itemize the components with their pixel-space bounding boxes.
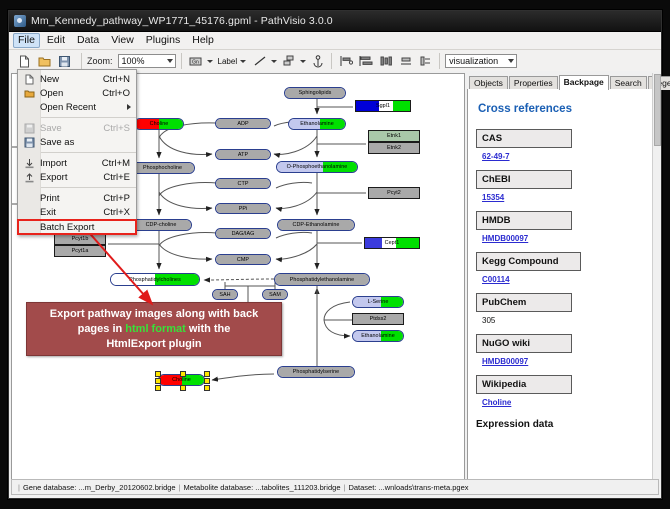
xref-row: CAS62-49-7: [476, 129, 651, 161]
node-label: Ptdss2: [370, 316, 387, 322]
menu-view[interactable]: View: [106, 33, 139, 48]
node-label: O-Phosphoethanolamine: [287, 164, 348, 170]
chevron-right-icon: [127, 104, 131, 110]
scrollbar-thumb[interactable]: [654, 74, 661, 146]
annotation-line-3: HtmlExport plugin: [106, 338, 201, 350]
node-fill-right: [396, 238, 419, 248]
cross-reference-list: CAS62-49-7ChEBI15354HMDBHMDB00097Kegg Co…: [476, 129, 651, 407]
tab-search[interactable]: Search: [610, 76, 647, 90]
metabolite-node-cmp[interactable]: CMP: [215, 254, 271, 265]
node-fill-right: [393, 101, 410, 111]
toolbar-separator: [81, 53, 82, 69]
xref-value[interactable]: C00114: [482, 275, 651, 284]
menu-item-label: Exit: [40, 207, 103, 218]
metabolite-node-phosphatidylserine[interactable]: Phosphatidylserine: [277, 366, 355, 378]
align-middle-icon[interactable]: [377, 53, 394, 70]
menu-item-import[interactable]: ImportCtrl+M: [18, 156, 136, 170]
xref-name: CAS: [476, 129, 572, 148]
anchor-icon[interactable]: [309, 53, 326, 70]
menu-item-label: Print: [40, 193, 103, 204]
menu-item-new[interactable]: NewCtrl+N: [18, 72, 136, 86]
menu-item-open[interactable]: OpenCtrl+O: [18, 86, 136, 100]
node-label: Phosphatidylcholines: [129, 277, 181, 283]
metabolite-node-cdp-choline[interactable]: CDP-choline: [130, 219, 192, 231]
gene-database-value: ...m_Derby_20120602.bridge: [78, 483, 175, 492]
xref-link[interactable]: C00114: [482, 275, 510, 284]
node-label: CMP: [237, 257, 249, 263]
menu-item-accelerator: Ctrl+S: [103, 123, 130, 134]
annotation-callout: Export pathway images along with back pa…: [26, 302, 282, 356]
open-folder-icon[interactable]: [36, 53, 53, 70]
metabolite-node-ppi[interactable]: PPi: [215, 203, 271, 214]
new-file-icon[interactable]: [16, 53, 33, 70]
toolbar-separator: [331, 53, 332, 69]
zoom-label: Zoom:: [87, 56, 113, 66]
menu-item-accelerator: Ctrl+E: [103, 172, 130, 183]
metabolite-node-ctp[interactable]: CTP: [215, 178, 271, 189]
xref-value[interactable]: Choline: [482, 398, 651, 407]
metabolite-node-ethanolamine[interactable]: Ethanolamine: [288, 118, 346, 130]
node-label: ADP: [237, 121, 248, 127]
menu-item-batch-export[interactable]: Batch Export: [18, 220, 136, 234]
annotation-line-1: Export pathway images along with back: [50, 308, 258, 320]
node-label: Ethanolamine: [300, 121, 334, 127]
node-label: CTP: [238, 181, 249, 187]
node-label: Ethanolamine: [361, 333, 395, 339]
selection-handle[interactable]: [204, 385, 210, 391]
save-as-icon: [18, 135, 40, 149]
chevron-down-icon[interactable]: [300, 60, 306, 63]
dataset-value: ...wnloads\trans-meta.pgex: [378, 483, 468, 492]
metabolite-database-label: Metabolite database:: [184, 483, 254, 492]
align-center-icon[interactable]: [357, 53, 374, 70]
node-label: CDP-choline: [146, 222, 177, 228]
xref-row: Kegg CompoundC00114: [476, 252, 651, 284]
pathvisio-icon: [14, 15, 26, 27]
node-label: SAM: [269, 292, 281, 298]
svg-text:Gn: Gn: [192, 59, 199, 65]
node-label: DAG/IAG: [232, 231, 255, 237]
selection-handle[interactable]: [180, 385, 186, 391]
zoom-combo[interactable]: 100%: [118, 54, 176, 68]
menu-item-label: Batch Export: [40, 222, 130, 233]
xref-name: Kegg Compound: [476, 252, 581, 271]
menu-item-label: Save: [40, 123, 103, 134]
dock-scrollbar[interactable]: [652, 73, 660, 481]
metabolite-node-dag-iag[interactable]: DAG/IAG: [215, 228, 271, 239]
xref-link[interactable]: HMDB00097: [482, 234, 528, 243]
status-bar: | Gene database: ...m_Derby_20120602.bri…: [11, 479, 659, 495]
menu-no-icon: [18, 205, 40, 219]
metabolite-node-choline[interactable]: Choline: [134, 118, 184, 130]
menu-no-icon: [18, 220, 40, 234]
menu-no-icon: [18, 100, 40, 114]
tab-objects[interactable]: Objects: [469, 76, 508, 90]
annotation-text: Export pathway images along with back pa…: [44, 307, 264, 352]
node-label: Phosphocholine: [143, 165, 182, 171]
node-label: ATP: [238, 152, 248, 158]
xref-link[interactable]: HMDB00097: [482, 357, 528, 366]
chevron-down-icon: [508, 59, 514, 63]
expression-data-heading: Expression data: [476, 419, 651, 430]
node-label: CDP-Ethanolamine: [293, 222, 340, 228]
side-dock: Objects Properties Backpage Search Legen…: [467, 73, 660, 481]
xref-name: Wikipedia: [476, 375, 572, 394]
metabolite-node-adp[interactable]: ADP: [215, 118, 271, 129]
chevron-down-icon[interactable]: [207, 60, 213, 63]
selection-handle[interactable]: [204, 378, 210, 384]
menu-item-accelerator: Ctrl+P: [103, 193, 130, 204]
gene-node-sgpl1[interactable]: Sgpl1: [355, 100, 411, 112]
metabolite-node-phosphatidylcholines[interactable]: Phosphatidylcholines: [110, 273, 200, 286]
metabolite-node-sah[interactable]: SAH: [212, 289, 238, 300]
status-divider: |: [179, 483, 181, 492]
selection-handle[interactable]: [180, 371, 186, 377]
xref-row: PubChem305: [476, 293, 651, 325]
screenshot-root: Mm_Kennedy_pathway_WP1771_45176.gpml - P…: [0, 0, 670, 509]
xref-name: PubChem: [476, 293, 572, 312]
menu-help[interactable]: Help: [187, 33, 219, 48]
node-fill-left: [365, 238, 382, 248]
gene-node-cept1[interactable]: Cept1: [364, 237, 420, 249]
menu-no-icon: [18, 191, 40, 205]
menu-plugins[interactable]: Plugins: [141, 33, 185, 48]
menu-bar: File Edit Data View Plugins Help: [9, 32, 661, 50]
group-icon[interactable]: [417, 53, 434, 70]
menu-item-label: Export: [40, 172, 103, 183]
node-label: Sphingolipids: [299, 90, 332, 96]
import-icon: [18, 156, 40, 170]
node-label: Pcyt1a: [72, 248, 89, 254]
menu-item-accelerator: Ctrl+M: [102, 158, 130, 169]
chevron-down-icon: [167, 59, 173, 63]
xref-row: ChEBI15354: [476, 170, 651, 202]
visualization-combo[interactable]: visualization: [445, 54, 517, 68]
gene-node-etnk1[interactable]: Etnk1: [368, 130, 420, 142]
node-label: Phosphatidylethanolamine: [290, 277, 354, 283]
node-label: Phosphatidylserine: [293, 369, 339, 375]
menu-item-save-as[interactable]: Save as: [18, 135, 136, 149]
line-icon[interactable]: [251, 53, 268, 70]
status-divider: |: [343, 483, 345, 492]
save-icon: [18, 121, 40, 135]
selection-handle[interactable]: [155, 371, 161, 377]
xref-value[interactable]: HMDB00097: [482, 234, 651, 243]
metabolite-node-sphingolipids[interactable]: Sphingolipids: [284, 87, 346, 99]
gene-node-etnk2[interactable]: Etnk2: [368, 142, 420, 154]
xref-row: NuGO wikiHMDB00097: [476, 334, 651, 366]
label-button-text: Label: [218, 57, 238, 66]
menu-data[interactable]: Data: [72, 33, 104, 48]
node-label: Etnk2: [387, 145, 401, 151]
dock-tabs: Objects Properties Backpage Search Legen…: [467, 73, 660, 90]
menu-item-label: Open Recent: [40, 102, 130, 113]
annotation-line-2c: with the: [186, 323, 231, 335]
metabolite-database-value: ...tabolites_111203.bridge: [255, 483, 340, 492]
gene-node-ptdss2[interactable]: Ptdss2: [352, 313, 404, 325]
xref-value[interactable]: HMDB00097: [482, 357, 651, 366]
node-label: Pcyt1b: [72, 236, 89, 242]
node-label: L-Serine: [368, 299, 389, 305]
stack-icon[interactable]: [397, 53, 414, 70]
menu-file[interactable]: File: [13, 33, 40, 48]
toolbar-file-group: [13, 51, 76, 71]
xref-link[interactable]: 62-49-7: [482, 152, 510, 161]
menu-item-save: SaveCtrl+S: [18, 121, 136, 135]
tab-backpage[interactable]: Backpage: [559, 75, 609, 90]
backpage-panel: Cross references CAS62-49-7ChEBI15354HMD…: [467, 89, 660, 481]
menu-item-export[interactable]: ExportCtrl+E: [18, 170, 136, 184]
menu-separator: [40, 187, 136, 188]
annotation-html-format: html format: [125, 323, 186, 335]
chevron-down-icon[interactable]: [271, 60, 277, 63]
xref-link[interactable]: 15354: [482, 193, 504, 202]
title-bar: Mm_Kennedy_pathway_WP1771_45176.gpml - P…: [9, 11, 661, 32]
metabolite-node-ethanolamine[interactable]: Ethanolamine: [352, 330, 404, 342]
annotation-line-2a: pages in: [78, 323, 126, 335]
node-label: Choline: [150, 121, 169, 127]
metabolite-node-sam[interactable]: SAM: [262, 289, 288, 300]
menu-item-accelerator: Ctrl+N: [103, 74, 130, 85]
xref-name: NuGO wiki: [476, 334, 572, 353]
menu-item-accelerator: Ctrl+O: [102, 88, 130, 99]
zoom-value: 100%: [122, 56, 145, 66]
window-title: Mm_Kennedy_pathway_WP1771_45176.gpml - P…: [31, 15, 333, 27]
xref-name: ChEBI: [476, 170, 572, 189]
node-label: SAH: [219, 292, 230, 298]
node-label: PPi: [239, 206, 248, 212]
selection-handle[interactable]: [204, 371, 210, 377]
menu-separator: [40, 117, 136, 118]
metabolite-node-o-phosphoethanolamine[interactable]: O-Phosphoethanolamine: [276, 161, 358, 173]
xref-row: HMDBHMDB00097: [476, 211, 651, 243]
application-window: Mm_Kennedy_pathway_WP1771_45176.gpml - P…: [8, 10, 662, 499]
xref-value[interactable]: 62-49-7: [482, 152, 651, 161]
shape-icon[interactable]: [280, 53, 297, 70]
metabolite-node-atp[interactable]: ATP: [215, 149, 271, 160]
align-left-icon[interactable]: [337, 53, 354, 70]
menu-item-exit[interactable]: ExitCtrl+X: [18, 205, 136, 219]
toolbar-separator: [181, 53, 182, 69]
toolbar-separator: [439, 53, 440, 69]
gene-node-pcyt2[interactable]: Pcyt2: [368, 187, 420, 199]
metabolite-node-phosphatidylethanolamine[interactable]: Phosphatidylethanolamine: [274, 273, 370, 286]
export-icon: [18, 170, 40, 184]
label-button[interactable]: Label: [216, 57, 249, 66]
menu-item-label: New: [40, 74, 103, 85]
xref-value[interactable]: 15354: [482, 193, 651, 202]
selection-handle[interactable]: [155, 378, 161, 384]
xref-name: HMDB: [476, 211, 572, 230]
menu-item-label: Save as: [40, 137, 130, 148]
node-label: Pcyt2: [387, 190, 401, 196]
datanode-icon[interactable]: Gn: [187, 53, 204, 70]
status-divider: |: [18, 483, 20, 492]
chevron-down-icon: [240, 60, 246, 63]
node-label: Sgpl1: [376, 103, 390, 109]
menu-item-accelerator: Ctrl+X: [103, 207, 130, 218]
metabolite-node-phosphocholine[interactable]: Phosphocholine: [130, 162, 195, 174]
menu-item-print[interactable]: PrintCtrl+P: [18, 191, 136, 205]
metabolite-node-cdp-ethanolamine[interactable]: CDP-Ethanolamine: [277, 219, 355, 231]
xref-value: 305: [482, 316, 651, 325]
folder-open-icon: [18, 86, 40, 100]
metabolite-node-l-serine[interactable]: L-Serine: [352, 296, 404, 308]
menu-item-label: Import: [40, 158, 102, 169]
gene-database-label: Gene database:: [23, 483, 76, 492]
selection-handle[interactable]: [155, 385, 161, 391]
menu-item-label: Open: [40, 88, 102, 99]
menu-separator: [40, 152, 136, 153]
node-label: Choline: [172, 377, 191, 383]
file-menu-popup[interactable]: NewCtrl+NOpenCtrl+OOpen RecentSaveCtrl+S…: [17, 69, 137, 235]
xref-link[interactable]: Choline: [482, 398, 511, 407]
xref-row: WikipediaCholine: [476, 375, 651, 407]
gene-node-pcyt1a[interactable]: Pcyt1a: [54, 245, 106, 257]
node-label: Cept1: [385, 240, 400, 246]
dataset-label: Dataset:: [348, 483, 376, 492]
menu-edit[interactable]: Edit: [42, 33, 70, 48]
new-file-icon: [18, 72, 40, 86]
save-icon[interactable]: [56, 53, 73, 70]
cross-references-title: Cross references: [478, 103, 651, 115]
node-label: Etnk1: [387, 133, 401, 139]
tab-properties[interactable]: Properties: [509, 76, 558, 90]
visualization-value: visualization: [449, 56, 498, 66]
menu-item-open-recent[interactable]: Open Recent: [18, 100, 136, 114]
